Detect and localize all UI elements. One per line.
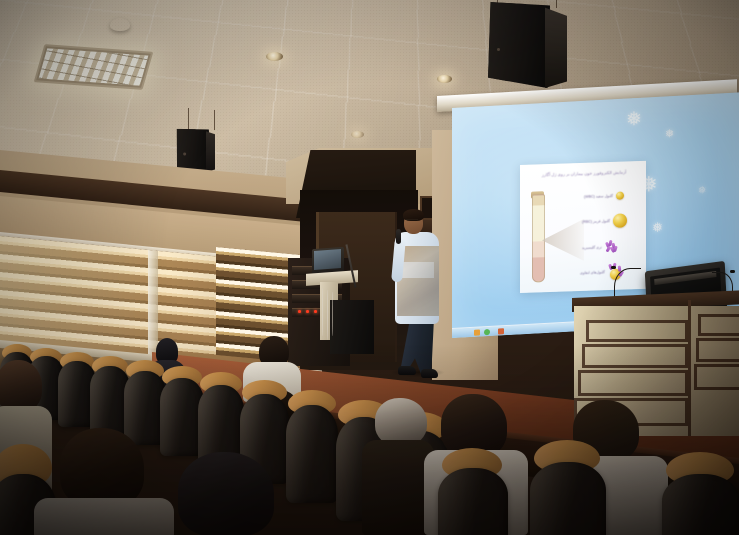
app-icon[interactable] — [498, 328, 504, 334]
speaker-right-face — [488, 2, 550, 88]
presenter-shoe-left — [398, 366, 416, 375]
downlight-icon-3 — [351, 131, 364, 138]
downlight-icon-1 — [266, 52, 283, 61]
browser-icon[interactable] — [484, 328, 490, 334]
floor-loudspeaker — [330, 300, 374, 354]
status-led-3 — [314, 310, 317, 313]
smoke-detector-icon — [110, 18, 130, 31]
slide-row-2: گلبول قرمز (RBC) — [582, 213, 627, 228]
yellow-cell-large-icon — [613, 213, 627, 227]
speaker-wire-right-b — [556, 0, 557, 8]
presenter-shoe-right — [421, 369, 438, 378]
person-head — [178, 452, 274, 535]
test-tube-icon — [532, 194, 545, 282]
chair-back-gloss — [530, 462, 606, 535]
ceiling-speaker-right — [488, 2, 550, 88]
gooseneck-mic-left-head — [611, 266, 616, 269]
ceiling-speaker-left-side — [206, 130, 215, 172]
person-head — [375, 398, 427, 446]
slide-row-3: تری گلیسیرید — [582, 240, 618, 254]
separation-cone-icon — [542, 219, 584, 262]
snowflake-icon-1: ❅ — [626, 110, 642, 130]
speaker-wire-left-a — [188, 108, 189, 130]
lecture-hall-photo: ❅ ❅ ❅ ❅ ❅ آزمایش الکتروفورز خون بیماران … — [0, 0, 739, 535]
cable-bundle-2 — [327, 290, 328, 340]
slide-row-1-label: گلبول سفید (WBC) — [584, 194, 613, 199]
status-led-2 — [306, 310, 309, 313]
gooseneck-mic-right-head — [730, 270, 735, 273]
person-head — [0, 360, 42, 412]
chair-back-gloss — [286, 405, 338, 503]
cable-bundle-3 — [332, 292, 333, 336]
slide-row-1: گلبول سفید (WBC) — [584, 192, 624, 201]
folder-icon[interactable] — [474, 329, 480, 335]
yellow-cell-small-icon — [616, 192, 624, 200]
chair-back-gloss — [662, 474, 739, 535]
glasses-icon — [405, 219, 418, 223]
projector-beam-highlight — [400, 262, 434, 278]
speaker-wire-left-b — [214, 110, 215, 130]
person-head — [60, 428, 144, 508]
slide-row-2-label: گلبول قرمز (RBC) — [582, 219, 610, 224]
speaker-left-screw — [183, 152, 186, 155]
rack-monitor-screen — [314, 249, 341, 270]
chair-back-gloss — [438, 468, 508, 535]
purple-cluster-icon — [605, 240, 618, 253]
fluorescent-troffer-icon — [34, 44, 154, 90]
slide-row-3-label: تری گلیسیرید — [582, 245, 602, 250]
ceiling-speaker-right-side — [545, 6, 567, 88]
troffer-grille — [39, 48, 149, 85]
slide-title: آزمایش الکتروفورز خون بیماران بر روی ژل … — [528, 169, 640, 178]
speaker-right-screw — [497, 48, 500, 51]
status-led-1 — [298, 310, 301, 313]
downlight-icon-2 — [437, 75, 452, 83]
slide-row-4-label: گلبول‌های لنفاوی — [580, 270, 605, 275]
person-body — [34, 498, 174, 535]
handheld-microphone-icon — [396, 229, 401, 244]
